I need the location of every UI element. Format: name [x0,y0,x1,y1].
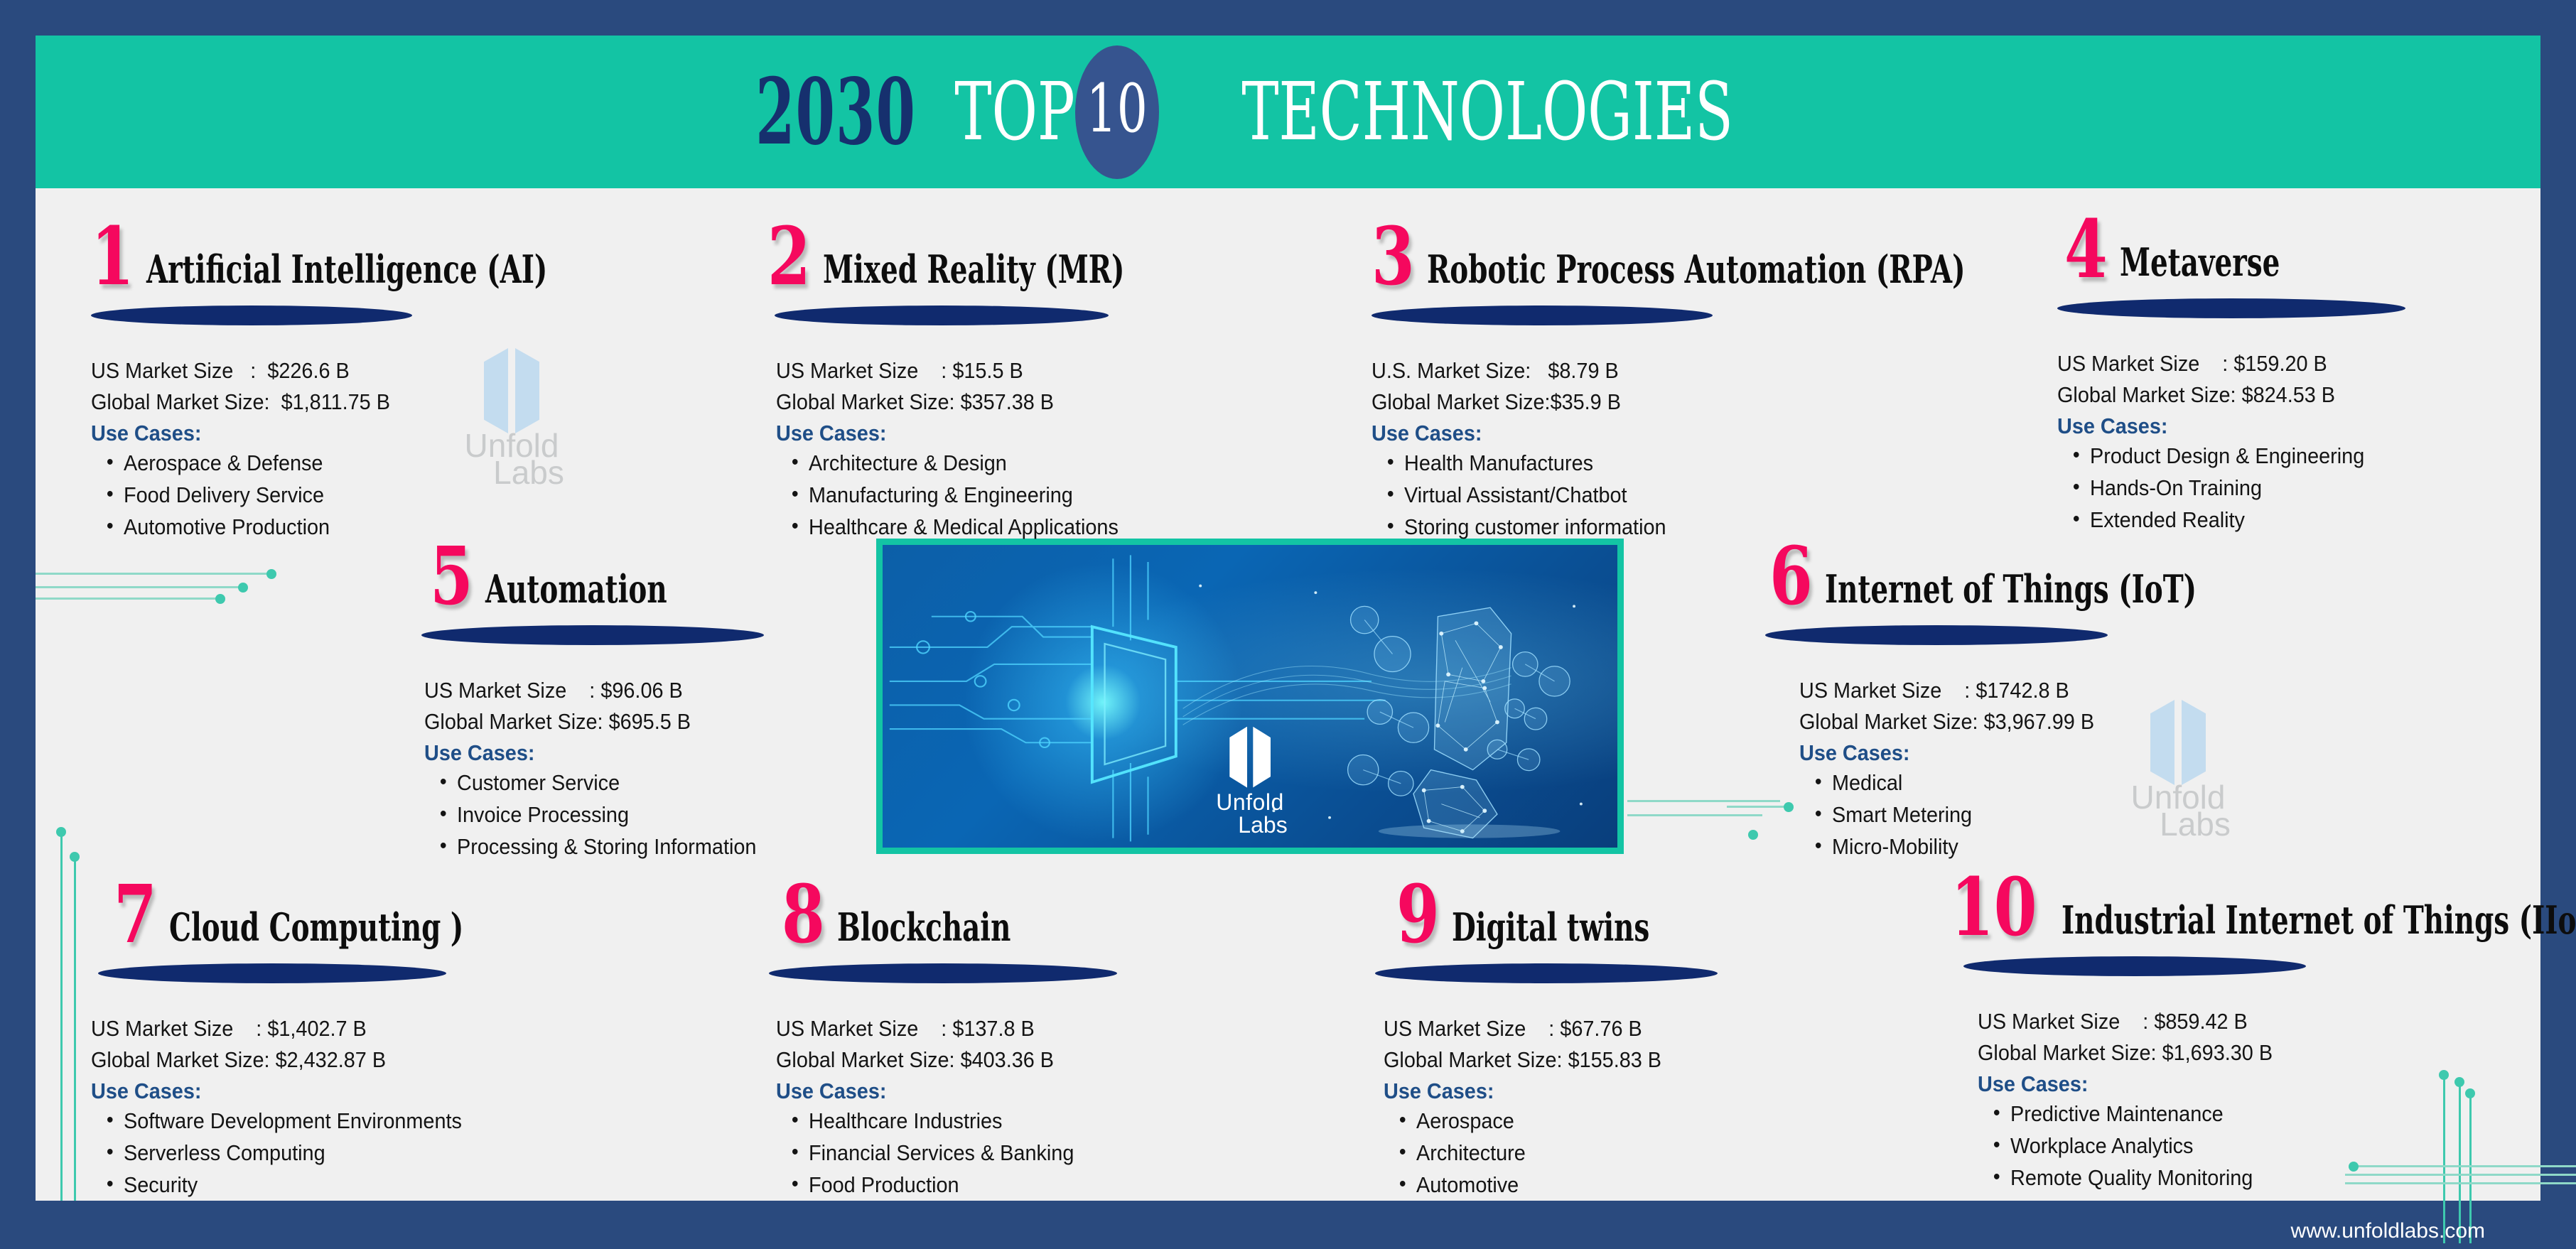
poster-header: 2030 TOP 10 TECHNOLOGIES [36,36,2540,188]
use-cases-list: Aerospace & Defense Food Delivery Servic… [91,448,588,544]
tech-card-5[interactable]: 5 Automation US Market Size : $96.06 B G… [430,548,885,863]
use-cases-label: Use Cases: [91,1078,588,1104]
us-market-size-row: US Market Size : $226.6 B [91,355,554,386]
tech-card-number: 3 [1371,225,1415,290]
use-cases-list: Predictive Maintenance Workplace Analyti… [1978,1098,2512,1194]
use-cases-label: Use Cases: [1978,1071,2474,1097]
tech-card-7[interactable]: 7 Cloud Computing ) US Market Size : $1,… [114,887,625,1201]
use-cases-label: Use Cases: [91,421,554,446]
tech-card-number: 2 [767,225,811,290]
tech-card-number: 10 [1951,875,2037,941]
list-item: Hands-On Training [2090,472,2489,504]
tech-card-number: 1 [91,225,134,290]
use-cases-list: Aerospace Architecture Automotive [1384,1105,1894,1201]
list-item: Micro-Mobility [1832,831,2236,863]
tech-card-9[interactable]: 9 Digital twins US Market Size : $67.76 … [1396,887,1894,1201]
tech-card-title: Internet of Things (IoT) [1825,570,2197,608]
global-market-size-row: Global Market Size: $403.36 B [776,1044,1244,1076]
tech-card-title: Metaverse [2120,243,2280,281]
tech-card-underline [1371,306,1713,325]
use-cases-label: Use Cases: [776,421,1271,446]
list-item: Aerospace & Defense [124,448,556,480]
header-technologies-word: TECHNOLOGIES [1241,66,1733,158]
infographic-poster: 2030 TOP 10 TECHNOLOGIES [0,0,2576,1249]
use-cases-label: Use Cases: [1384,1078,1858,1104]
global-market-size-row: Global Market Size: $824.53 B [2057,379,2487,411]
list-item: Aerospace [1416,1105,1860,1137]
us-market-size-row: US Market Size : $1,402.7 B [91,1013,588,1044]
us-market-size-row: US Market Size : $859.42 B [1978,1006,2474,1037]
tech-card-underline [1963,956,2306,976]
use-cases-label: Use Cases: [1799,740,2234,766]
list-item: Architecture [1416,1137,1860,1169]
us-market-size-row: U.S. Market Size: $8.79 B [1371,355,1914,386]
list-item: Smart Metering [1832,799,2236,831]
tech-card-underline [1375,963,1718,983]
header-top-word: TOP [954,66,1074,158]
list-item: Automotive [1416,1169,1860,1201]
tech-card-8[interactable]: 8 Blockchain US Market Size : $137.8 B G… [782,887,1279,1201]
list-item: Processing & Storing Information [457,831,855,863]
tech-card-underline [421,625,764,645]
us-market-size-row: US Market Size : $1742.8 B [1799,675,2234,706]
tech-card-number: 5 [430,544,473,610]
global-market-size-row: Global Market Size: $2,432.87 B [91,1044,588,1076]
list-item: Predictive Maintenance [2010,1098,2477,1130]
list-item: Manufacturing & Engineering [809,480,1273,512]
list-item: Financial Services & Banking [809,1137,1246,1169]
use-cases-list: Health Manufactures Virtual Assistant/Ch… [1371,448,1954,544]
tech-card-underline [775,306,1109,325]
tech-card-underline [1765,625,2108,645]
tech-card-title: Cloud Computing ) [169,908,463,946]
list-item: Product Design & Engineering [2090,440,2489,472]
tech-card-10[interactable]: 10 Industrial Internet of Things (IIoT) … [1951,880,2512,1194]
list-item: Remote Quality Monitoring [2010,1162,2477,1194]
global-market-size-row: Global Market Size: $1,811.75 B [91,386,554,418]
tech-card-underline [2057,298,2405,318]
list-item: Extended Reality [2090,504,2489,536]
footer-website-link[interactable]: www.unfoldlabs.com [2291,1219,2485,1243]
list-item: Software Development Environments [124,1105,591,1137]
tech-card-title: Digital twins [1452,908,1649,946]
global-market-size-row: Global Market Size:$35.9 B [1371,386,1914,418]
tech-card-number: 9 [1396,882,1440,948]
tech-card-6[interactable]: 6 Internet of Things (IoT) US Market Siz… [1769,548,2267,863]
list-item: Serverless Computing [124,1137,591,1169]
list-item: Food Delivery Service [124,480,556,512]
us-market-size-row: US Market Size : $159.20 B [2057,348,2487,379]
us-market-size-row: US Market Size : $96.06 B [424,675,853,706]
use-cases-label: Use Cases: [2057,413,2487,439]
global-market-size-row: Global Market Size: $155.83 B [1384,1044,1858,1076]
tech-card-3[interactable]: 3 Robotic Process Automation (RPA) U.S. … [1371,229,1954,544]
use-cases-list: Healthcare Industries Financial Services… [776,1105,1279,1201]
list-item: Customer Service [457,767,855,799]
tech-card-number: 8 [782,882,825,948]
list-item: Virtual Assistant/Chatbot [1404,480,1916,512]
list-item: Workplace Analytics [2010,1130,2477,1162]
list-item: Automotive Production [124,512,556,544]
tech-card-2[interactable]: 2 Mixed Reality (MR) US Market Size : $1… [767,229,1308,544]
use-cases-label: Use Cases: [1371,421,1914,446]
use-cases-list: Architecture & Design Manufacturing & En… [776,448,1308,544]
tech-card-underline [91,306,412,325]
us-market-size-row: US Market Size : $67.76 B [1384,1013,1858,1044]
use-cases-list: Product Design & Engineering Hands-On Tr… [2057,440,2519,536]
us-market-size-row: US Market Size : $15.5 B [776,355,1271,386]
tech-card-4[interactable]: 4 Metaverse US Market Size : $159.20 B G… [2064,222,2519,536]
tech-card-number: 7 [114,882,157,948]
list-item: Security [124,1169,591,1201]
list-item: Healthcare Industries [809,1105,1246,1137]
use-cases-list: Medical Smart Metering Micro-Mobility [1799,767,2267,863]
tech-card-title: Artificial Intelligence (AI) [146,250,547,288]
list-item: Architecture & Design [809,448,1273,480]
use-cases-list: Software Development Environments Server… [91,1105,625,1201]
tech-card-title: Robotic Process Automation (RPA) [1427,250,1965,288]
header-ten-badge: 10 [1075,45,1159,179]
list-item: Healthcare & Medical Applications [809,512,1273,544]
header-badge-number: 10 [1086,76,1147,143]
tech-card-title: Industrial Internet of Things (IIoT) [2062,901,2576,939]
global-market-size-row: Global Market Size: $357.38 B [776,386,1271,418]
list-item: Storing customer information [1404,512,1916,544]
tech-card-1[interactable]: 1 Artificial Intelligence (AI) US Market… [91,229,588,544]
list-item: Invoice Processing [457,799,855,831]
use-cases-label: Use Cases: [776,1078,1244,1104]
list-item: Health Manufactures [1404,448,1916,480]
global-market-size-row: Global Market Size: $3,967.99 B [1799,706,2234,737]
us-market-size-row: US Market Size : $137.8 B [776,1013,1244,1044]
tech-card-number: 4 [2064,217,2108,283]
use-cases-list: Customer Service Invoice Processing Proc… [424,767,885,863]
tech-card-number: 6 [1769,544,1813,610]
list-item: Food Production [809,1169,1246,1201]
tech-card-title: Blockchain [837,908,1011,946]
tech-card-underline [98,963,446,983]
header-year: 2030 [756,59,917,166]
tech-card-title: Automation [485,570,667,608]
tech-card-title: Mixed Reality (MR) [823,250,1124,288]
tech-card-underline [769,963,1117,983]
global-market-size-row: Global Market Size: $695.5 B [424,706,853,737]
hero-technology-image: Unfold Labs [876,539,1624,854]
use-cases-label: Use Cases: [424,740,853,766]
list-item: Medical [1832,767,2236,799]
global-market-size-row: Global Market Size: $1,693.30 B [1978,1037,2474,1069]
